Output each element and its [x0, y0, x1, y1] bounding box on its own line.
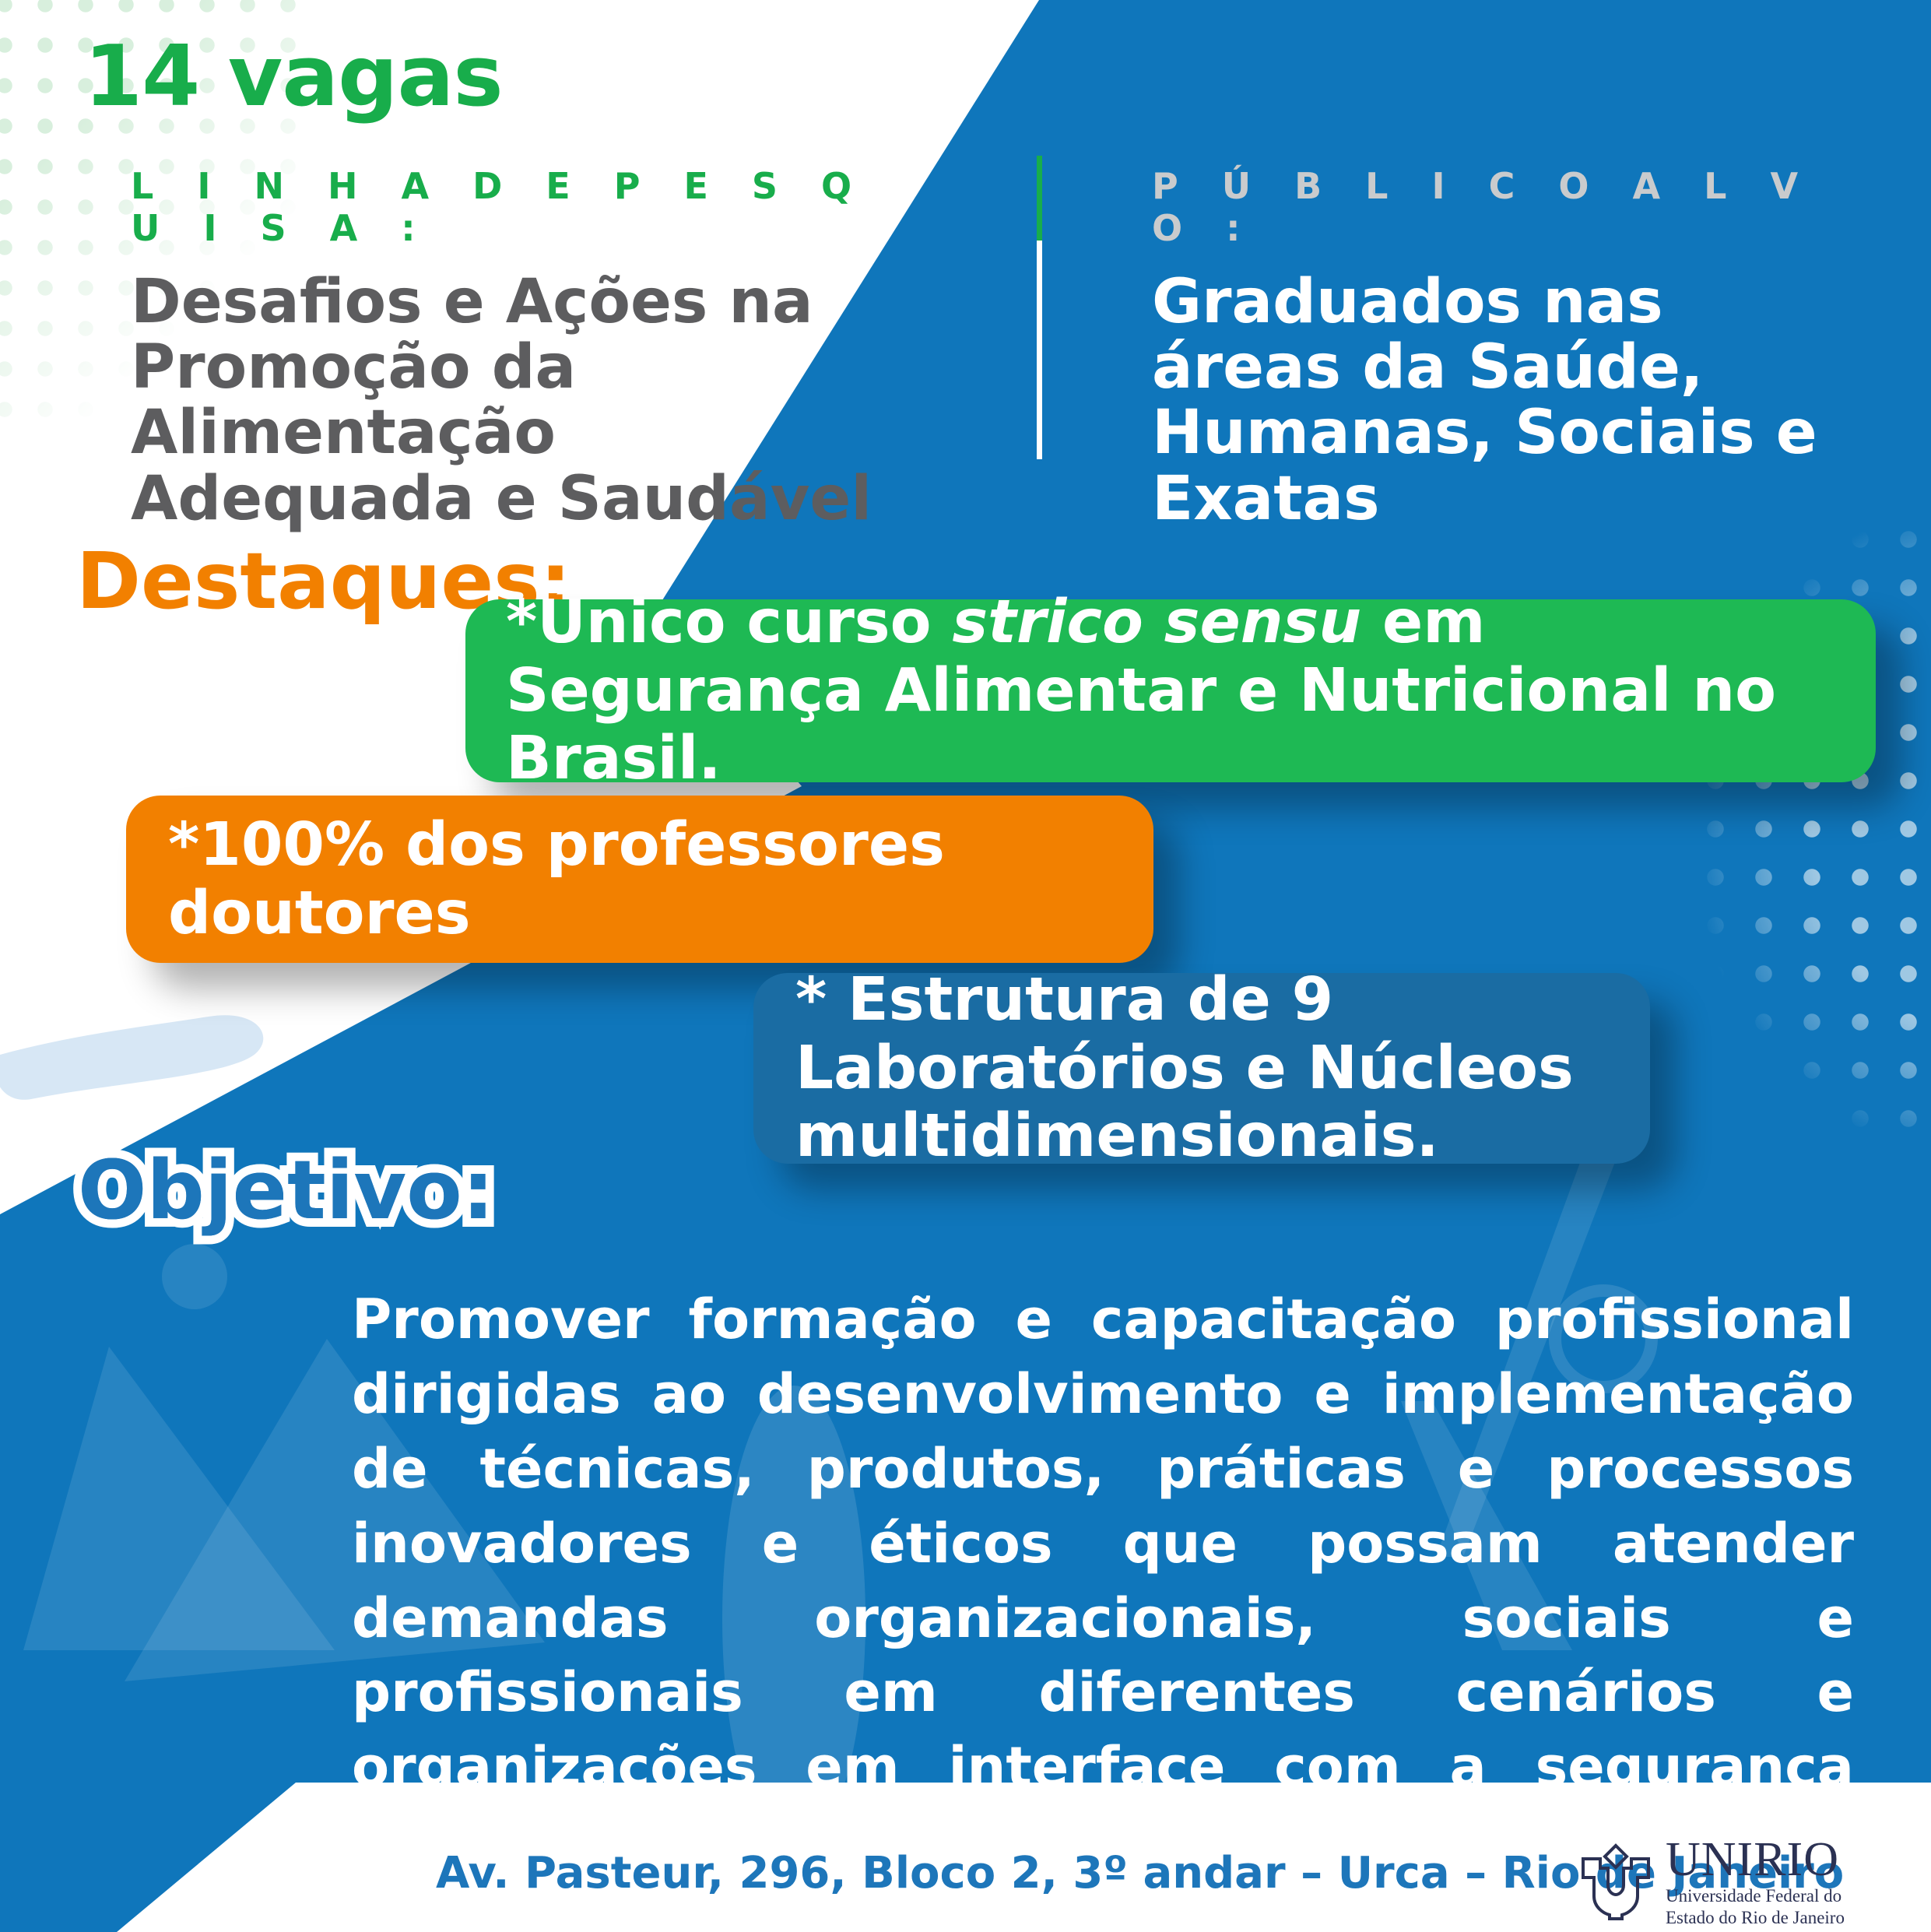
research-line-text: Desafios e Ações na Promoção da Alimenta…: [131, 269, 917, 532]
unirio-crest-icon: [1578, 1842, 1653, 1923]
content-layer: 14 vagas L I N H A D E P E S Q U I S A :…: [0, 0, 1931, 1932]
highlight-text-before: *Único curso: [506, 588, 952, 657]
unirio-subtitle: Universidade Federal do Estado do Rio de…: [1666, 1885, 1845, 1929]
unirio-title: UNIRIO: [1666, 1835, 1845, 1884]
poster-canvas: 14 vagas L I N H A D E P E S Q U I S A :…: [0, 0, 1931, 1932]
objective-text: Promover formação e capacitação profissi…: [352, 1283, 1854, 1932]
research-line-column: L I N H A D E P E S Q U I S A : Desafios…: [131, 165, 917, 532]
highlight-text-labs-structure: * Estrutura de 9 Laboratórios e Núcleos …: [795, 966, 1608, 1171]
unirio-subtitle-line2: Estado do Rio de Janeiro: [1666, 1907, 1845, 1929]
target-audience-label: P Ú B L I C O A L V O :: [1152, 165, 1837, 249]
research-line-label: L I N H A D E P E S Q U I S A :: [131, 165, 917, 249]
highlight-card-labs-structure: * Estrutura de 9 Laboratórios e Núcleos …: [753, 973, 1650, 1164]
target-audience-text: Graduados nas áreas da Saúde, Humanas, S…: [1152, 269, 1837, 532]
highlight-card-unique-course: *Único curso strico sensu em Segurança A…: [465, 599, 1876, 782]
highlight-card-all-doctors: *100% dos professores doutores: [126, 796, 1153, 963]
unirio-logo-text: UNIRIO Universidade Federal do Estado do…: [1666, 1835, 1845, 1929]
unirio-logo: UNIRIO Universidade Federal do Estado do…: [1578, 1835, 1845, 1929]
highlight-text-all-doctors: *100% dos professores doutores: [168, 811, 1111, 948]
target-audience-column: P Ú B L I C O A L V O : Graduados nas ár…: [1152, 165, 1837, 532]
vacancies-count: 14 vagas: [84, 28, 503, 125]
column-divider: [1037, 156, 1042, 459]
objective-heading: Objetivo:: [78, 1143, 494, 1238]
highlight-text-italic: strico sensu: [952, 588, 1361, 657]
unirio-subtitle-line1: Universidade Federal do: [1666, 1885, 1845, 1907]
